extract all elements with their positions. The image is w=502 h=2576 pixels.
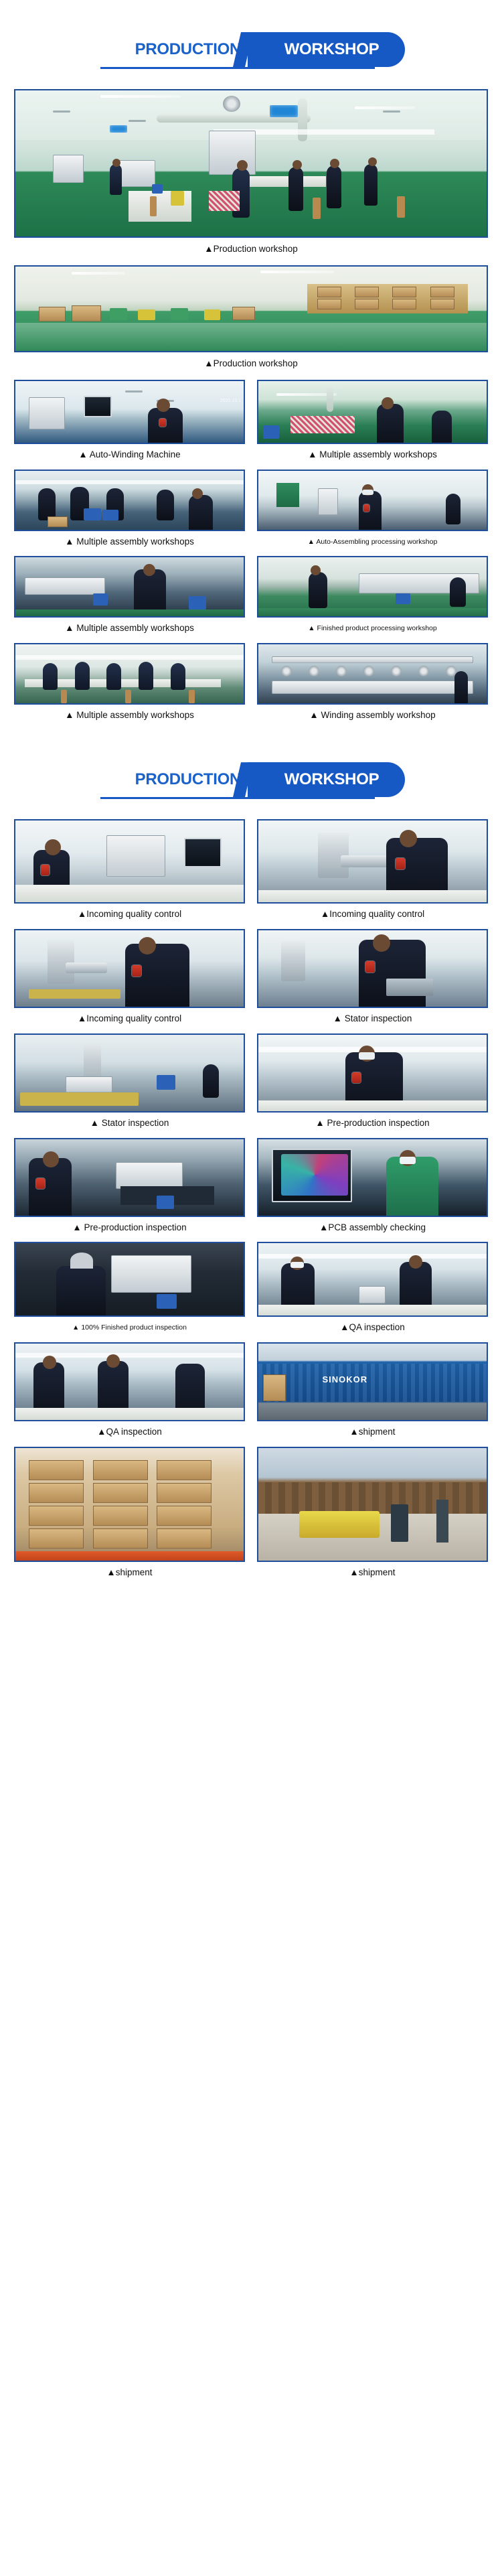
caption-stator-2: ▲ Stator inspection <box>14 1113 245 1129</box>
photo-row-4: ▲ Multiple assembly workshops ▲ Auto-Ass… <box>14 470 488 547</box>
caption-iqc-2: ▲Incoming quality control <box>257 904 488 920</box>
photo-cell-shipment-3: ▲shipment <box>257 1447 488 1578</box>
caption-auto-assembling: ▲ Auto-Assembling processing workshop <box>257 531 488 547</box>
photo-multiple-assembly-workshops-1[interactable] <box>257 380 488 444</box>
photo-production-workshop-2[interactable] <box>14 265 488 352</box>
photo-cell-preprod-1: ▲ Pre-production inspection <box>257 1033 488 1129</box>
overhead-line-sign <box>270 105 298 117</box>
photo-qa-inspection-1[interactable] <box>257 1242 488 1317</box>
caption-shipment-2: ▲shipment <box>14 1562 245 1578</box>
face-mask-icon <box>400 1157 416 1164</box>
banner-left-2: PRODUCTION <box>97 762 248 797</box>
caption-shipment-3: ▲shipment <box>257 1562 488 1578</box>
photo-cell-iqc-1: ▲Incoming quality control <box>14 819 245 920</box>
photo-cell-iqc-3: ▲Incoming quality control <box>14 929 245 1024</box>
photo-incoming-quality-control-3[interactable] <box>14 929 245 1008</box>
caption-preprod-2: ▲ Pre-production inspection <box>14 1217 245 1233</box>
photo-cell-shipment-2: ▲shipment <box>14 1447 245 1578</box>
caption-pcb-checking: ▲PCB assembly checking <box>257 1217 488 1233</box>
section-banner-2: PRODUCTION WORKSHOP <box>0 762 502 797</box>
photo-qa-inspection-2[interactable] <box>14 1342 245 1421</box>
section-production-workshop-1: PRODUCTION WORKSHOP <box>0 0 502 721</box>
photo-cell-finished-product: ▲ Finished product processing workshop <box>257 556 488 634</box>
photo-cell-winding-assembly: ▲ Winding assembly workshop <box>257 643 488 721</box>
banner-left-text-1: PRODUCTION <box>135 40 241 59</box>
caption-qa-2: ▲QA inspection <box>14 1421 245 1437</box>
photo-multiple-assembly-workshops-2[interactable] <box>14 470 245 531</box>
photo-row-13: ▲shipment ▲shipment <box>14 1447 488 1578</box>
photo-cell-pcb-checking: ▲PCB assembly checking <box>257 1138 488 1233</box>
caption-multiple-assembly-2: ▲ Multiple assembly workshops <box>14 531 245 547</box>
photo-auto-winding-machine[interactable]: 2020.10.1 <box>14 380 245 444</box>
photo-cell-preprod-2: ▲ Pre-production inspection <box>14 1138 245 1233</box>
photo-row-1: ▲Production workshop <box>14 89 488 255</box>
photo-row-10: ▲ Pre-production inspection ▲PCB assembl… <box>14 1138 488 1233</box>
photo-cell-stator-2: ▲ Stator inspection <box>14 1033 245 1129</box>
photo-cell-auto-winding-machine: 2020.10.1 ▲ Auto-Winding Machine <box>14 380 245 460</box>
photo-cell-iqc-2: ▲Incoming quality control <box>257 819 488 920</box>
photo-shipment-1[interactable]: SINOKOR <box>257 1342 488 1421</box>
banner-right-text-2: WORKSHOP <box>284 770 380 789</box>
container-brand-label: SINOKOR <box>322 1374 367 1384</box>
uniform-badge <box>41 865 50 875</box>
photo-row-7: ▲Incoming quality control ▲Incoming qual… <box>14 819 488 920</box>
caption-qa-1: ▲QA inspection <box>257 1317 488 1333</box>
photo-winding-assembly-workshop[interactable] <box>257 643 488 705</box>
face-mask-icon <box>290 1262 304 1268</box>
photo-incoming-quality-control-2[interactable] <box>257 819 488 904</box>
keyboard-icon <box>20 1092 139 1106</box>
banner-left-1: PRODUCTION <box>97 32 248 67</box>
photo-row-2: ▲Production workshop <box>14 265 488 369</box>
photo-shipment-3[interactable] <box>257 1447 488 1562</box>
photo-cell-multiple-assembly-3: ▲ Multiple assembly workshops <box>14 556 245 634</box>
photo-stator-inspection-1[interactable] <box>257 929 488 1008</box>
caption-iqc-3: ▲Incoming quality control <box>14 1008 245 1024</box>
forklift-icon <box>299 1511 380 1538</box>
caption-production-workshop-2: ▲Production workshop <box>14 352 488 369</box>
photo-finished-product-processing-workshop[interactable] <box>257 556 488 618</box>
caption-shipment-1: ▲shipment <box>257 1421 488 1437</box>
face-mask-icon <box>362 490 373 495</box>
photo-row-6: ▲ Multiple assembly workshops ▲ <box>14 643 488 721</box>
photo-row-8: ▲Incoming quality control ▲ Stator inspe… <box>14 929 488 1024</box>
caption-multiple-assembly-1: ▲ Multiple assembly workshops <box>257 444 488 460</box>
photo-row-9: ▲ Stator inspection ▲ Pre-production ins… <box>14 1033 488 1129</box>
photo-incoming-quality-control-1[interactable] <box>14 819 245 904</box>
photo-cell-auto-assembling: ▲ Auto-Assembling processing workshop <box>257 470 488 547</box>
photo-cell-shipment-1: SINOKOR ▲shipment <box>257 1342 488 1437</box>
banner-right-1: WORKSHOP <box>248 32 405 67</box>
caption-auto-winding-machine: ▲ Auto-Winding Machine <box>14 444 245 460</box>
hair-cap-icon <box>70 1253 93 1269</box>
photo-cell-multiple-assembly-4: ▲ Multiple assembly workshops <box>14 643 245 721</box>
banner-right-2: WORKSHOP <box>248 762 405 797</box>
section-production-workshop-2: PRODUCTION WORKSHOP ▲ <box>0 762 502 1594</box>
photo-cell-qa-2: ▲QA inspection <box>14 1342 245 1437</box>
photo-pre-production-inspection-2[interactable] <box>14 1138 245 1217</box>
photo-finished-product-inspection[interactable] <box>14 1242 245 1317</box>
uniform-badge <box>159 419 166 427</box>
caption-winding-assembly: ▲ Winding assembly workshop <box>257 705 488 721</box>
photo-cell-multiple-assembly-2: ▲ Multiple assembly workshops <box>14 470 245 547</box>
inspection-screen <box>281 1154 348 1196</box>
banner-right-text-1: WORKSHOP <box>284 40 380 59</box>
caption-stator-1: ▲ Stator inspection <box>257 1008 488 1024</box>
photo-multiple-assembly-workshops-4[interactable] <box>14 643 245 705</box>
banner-left-text-2: PRODUCTION <box>135 770 241 789</box>
photo-row-5: ▲ Multiple assembly workshops ▲ Finished… <box>14 556 488 634</box>
caption-preprod-1: ▲ Pre-production inspection <box>257 1113 488 1129</box>
photo-row-3: 2020.10.1 ▲ Auto-Winding Machine ▲ Multi… <box>14 380 488 460</box>
section-banner-1: PRODUCTION WORKSHOP <box>0 32 502 67</box>
face-mask-icon <box>359 1052 375 1060</box>
photo-cell-multiple-assembly-1: ▲ Multiple assembly workshops <box>257 380 488 460</box>
component-tray <box>386 979 433 996</box>
photo-stator-inspection-2[interactable] <box>14 1033 245 1113</box>
caption-iqc-1: ▲Incoming quality control <box>14 904 245 920</box>
photo-row-12: ▲QA inspection SINOKOR ▲shipment <box>14 1342 488 1437</box>
photo-production-workshop-1[interactable] <box>14 89 488 238</box>
caption-production-workshop-1: ▲Production workshop <box>14 238 488 255</box>
photo-pcb-assembly-checking[interactable] <box>257 1138 488 1217</box>
photo-pre-production-inspection-1[interactable] <box>257 1033 488 1113</box>
caption-finished-inspection: ▲ 100% Finished product inspection <box>14 1317 245 1332</box>
caption-finished-product: ▲ Finished product processing workshop <box>257 618 488 633</box>
caption-multiple-assembly-3: ▲ Multiple assembly workshops <box>14 618 245 634</box>
machine-display <box>84 396 112 417</box>
photo-watermark: 2020.10.1 <box>220 399 241 403</box>
photo-cell-stator-1: ▲ Stator inspection <box>257 929 488 1024</box>
photo-auto-assembling-processing-workshop[interactable] <box>257 470 488 531</box>
photo-multiple-assembly-workshops-3[interactable] <box>14 556 245 618</box>
photo-shipment-2[interactable] <box>14 1447 245 1562</box>
photo-cell-finished-inspection: ▲ 100% Finished product inspection <box>14 1242 245 1333</box>
photo-row-11: ▲ 100% Finished product inspection ▲QA i… <box>14 1242 488 1333</box>
caption-multiple-assembly-4: ▲ Multiple assembly workshops <box>14 705 245 721</box>
photo-cell-qa-1: ▲QA inspection <box>257 1242 488 1333</box>
